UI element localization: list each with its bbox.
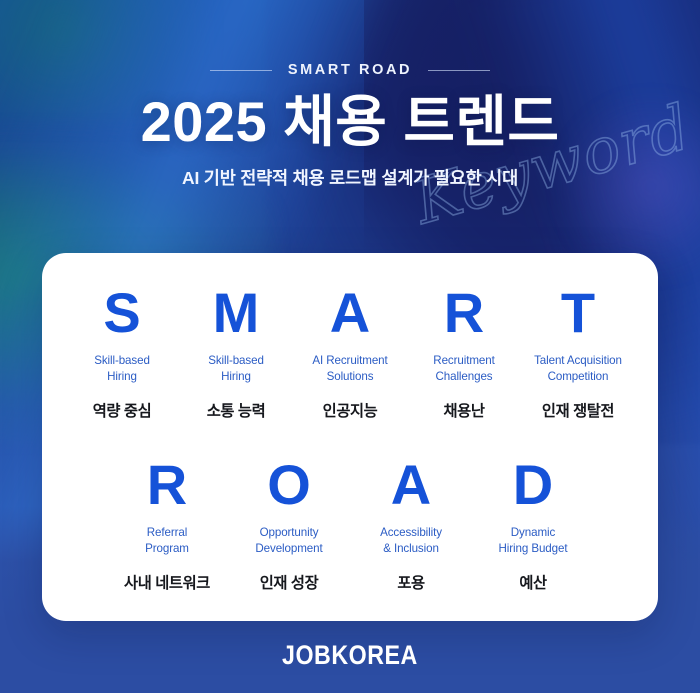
smart-item-t-korean: 인재 쟁탈전 [542,399,614,421]
smart-item-a: A AI Recruitment Solutions 인공지능 [293,285,407,421]
letter-t: T [561,285,595,341]
road-item-d-english-line1: Dynamic [499,525,568,541]
smart-item-a-english-line1: AI Recruitment [312,353,387,369]
smart-item-r-english: Recruitment Challenges [433,353,494,386]
road-item-o-english: Opportunity Development [255,525,322,558]
smart-item-t-english: Talent Acquisition Competition [534,353,622,386]
smart-item-a-english: AI Recruitment Solutions [312,353,387,386]
letter-m: M [213,285,260,341]
smart-item-t-english-line2: Competition [534,369,622,385]
road-item-d-korean: 예산 [519,571,546,593]
smart-item-s-korean: 역량 중심 [93,399,152,421]
road-item-d-english: Dynamic Hiring Budget [499,525,568,558]
smart-item-t-english-line1: Talent Acquisition [534,353,622,369]
smart-item-r-korean: 채용난 [443,399,484,421]
road-item-d-english-line2: Hiring Budget [499,541,568,557]
road-row: R Referral Program 사내 네트워크 O Opportunity… [64,457,636,593]
smart-item-a-korean: 인공지능 [323,399,378,421]
eyebrow-rule-right [428,70,490,71]
smart-item-r-english-line1: Recruitment [433,353,494,369]
smart-item-s-english-line1: Skill-based [94,353,150,369]
smart-item-r: R Recruitment Challenges 채용난 [407,285,521,421]
eyebrow-label: SMART ROAD [288,62,412,78]
letter-road-a: A [391,457,431,513]
smart-item-m-korean: 소통 능력 [207,399,266,421]
smart-item-s: S Skill-based Hiring 역량 중심 [65,285,179,421]
smart-item-m-english-line1: Skill-based [208,353,264,369]
smart-item-m-english: Skill-based Hiring [208,353,264,386]
letter-road-r: R [147,457,187,513]
road-item-a-english: Accessibility & Inclusion [380,525,442,558]
letter-a: A [330,285,370,341]
smart-item-s-english-line2: Hiring [94,369,150,385]
road-item-r-english-line1: Referral [145,525,189,541]
smart-item-t: T Talent Acquisition Competition 인재 쟁탈전 [521,285,635,421]
smart-road-card: S Skill-based Hiring 역량 중심 M Skill-based… [42,253,658,621]
eyebrow-rule-left [210,70,272,71]
road-item-a-english-line1: Accessibility [380,525,442,541]
smart-item-m-english-line2: Hiring [208,369,264,385]
smart-item-s-english: Skill-based Hiring [94,353,150,386]
road-item-r-english-line2: Program [145,541,189,557]
road-item-r: R Referral Program 사내 네트워크 [106,457,228,593]
letter-s: S [103,285,140,341]
jobkorea-logo: JOBKOREA [282,640,418,671]
road-item-a-english-line2: & Inclusion [380,541,442,557]
road-item-a-korean: 포용 [397,571,424,593]
letter-road-o: O [267,457,311,513]
road-item-o: O Opportunity Development 인재 성장 [228,457,350,593]
poster-footer: JOBKOREA [0,640,700,671]
eyebrow: SMART ROAD [0,62,700,78]
smart-item-a-english-line2: Solutions [312,369,387,385]
poster-header: SMART ROAD 2025 채용 트렌드 AI 기반 전략적 채용 로드맵 … [0,62,700,190]
road-item-r-english: Referral Program [145,525,189,558]
smart-item-r-english-line2: Challenges [433,369,494,385]
letter-road-d: D [513,457,553,513]
page-title: 2025 채용 트렌드 [0,92,700,152]
road-item-r-korean: 사내 네트워크 [124,571,210,593]
smart-item-m: M Skill-based Hiring 소통 능력 [179,285,293,421]
letter-r: R [444,285,484,341]
road-item-d: D Dynamic Hiring Budget 예산 [472,457,594,593]
road-item-o-english-line2: Development [255,541,322,557]
poster-canvas: Keyword SMART ROAD 2025 채용 트렌드 AI 기반 전략적… [0,0,700,693]
page-subtitle: AI 기반 전략적 채용 로드맵 설계가 필요한 시대 [0,165,700,190]
road-item-o-english-line1: Opportunity [255,525,322,541]
road-item-a: A Accessibility & Inclusion 포용 [350,457,472,593]
road-item-o-korean: 인재 성장 [260,571,319,593]
smart-row: S Skill-based Hiring 역량 중심 M Skill-based… [64,285,636,421]
